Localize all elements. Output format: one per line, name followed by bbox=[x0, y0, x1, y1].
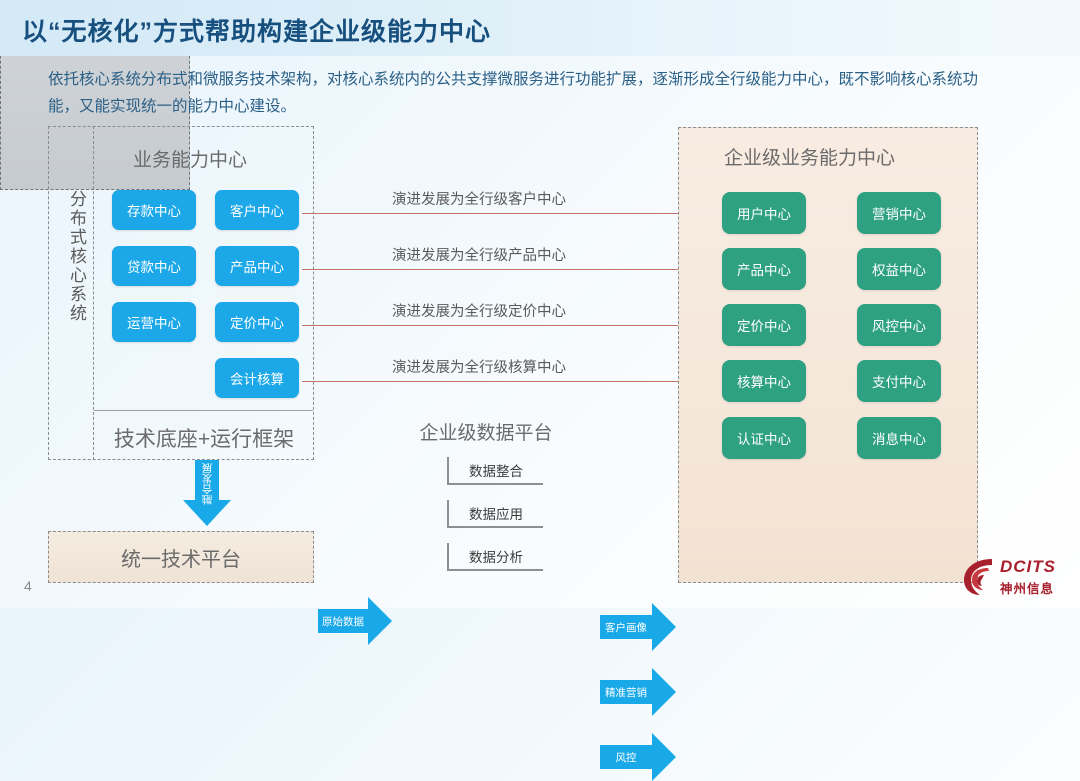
ent-box-payment[interactable]: 支付中心 bbox=[857, 360, 941, 402]
evolution-label-2: 演进发展为全行级产品中心 bbox=[392, 244, 566, 265]
ent-box-riskcontrol[interactable]: 风控中心 bbox=[857, 304, 941, 346]
dcits-swirl-icon bbox=[962, 556, 1002, 598]
page-title: 以“无核化”方式帮助构建企业级能力中心 bbox=[22, 12, 491, 48]
arrow-customer-profile-label: 客户画像 bbox=[600, 615, 652, 639]
page-subtitle: 依托核心系统分布式和微服务技术架构，对核心系统内的公共支撑微服务进行功能扩展，逐… bbox=[48, 66, 988, 120]
tech-base-separator bbox=[94, 410, 313, 411]
arrow-risk-control-head-icon bbox=[652, 733, 676, 781]
data-item-integration[interactable]: 数据整合 bbox=[447, 457, 543, 485]
evolution-line-4 bbox=[302, 381, 706, 382]
ent-box-auth[interactable]: 认证中心 bbox=[722, 417, 806, 459]
ent-box-pricing[interactable]: 定价中心 bbox=[722, 304, 806, 346]
evolution-label-3: 演进发展为全行级定价中心 bbox=[392, 300, 566, 321]
data-item-analysis[interactable]: 数据分析 bbox=[447, 543, 543, 571]
ent-box-rights[interactable]: 权益中心 bbox=[857, 248, 941, 290]
page-number: 4 bbox=[24, 578, 32, 594]
core-box-pricing[interactable]: 定价中心 bbox=[215, 302, 299, 342]
slide-root: 以“无核化”方式帮助构建企业级能力中心 依托核心系统分布式和微服务技术架构，对核… bbox=[0, 0, 1080, 608]
enterprise-center-title: 企业级业务能力中心 bbox=[724, 143, 895, 170]
evolution-line-3 bbox=[302, 325, 706, 326]
evolution-line-1 bbox=[302, 213, 706, 214]
core-system-vertical-label: 分布式核心系统 bbox=[55, 190, 89, 323]
ent-box-marketing[interactable]: 营销中心 bbox=[857, 192, 941, 234]
core-box-product[interactable]: 产品中心 bbox=[215, 246, 299, 286]
data-platform-title: 企业级数据平台 bbox=[392, 418, 580, 445]
arrow-precision-marketing-label: 精准营销 bbox=[600, 680, 652, 704]
arrow-raw-data-label: 原始数据 bbox=[318, 609, 368, 633]
data-item-application[interactable]: 数据应用 bbox=[447, 500, 543, 528]
core-box-loan[interactable]: 贷款中心 bbox=[112, 246, 196, 286]
core-box-customer[interactable]: 客户中心 bbox=[215, 190, 299, 230]
ent-box-accounting[interactable]: 核算中心 bbox=[722, 360, 806, 402]
down-arrow-label: 融合发展 bbox=[195, 460, 219, 508]
business-capability-center-title: 业务能力中心 bbox=[133, 145, 247, 172]
logo-text-en: DCITS bbox=[1000, 557, 1056, 577]
ent-box-message[interactable]: 消息中心 bbox=[857, 417, 941, 459]
core-box-operation[interactable]: 运营中心 bbox=[112, 302, 196, 342]
core-box-deposit[interactable]: 存款中心 bbox=[112, 190, 196, 230]
arrow-customer-profile-head-icon bbox=[652, 603, 676, 651]
core-box-accounting[interactable]: 会计核算 bbox=[215, 358, 299, 398]
evolution-label-4: 演进发展为全行级核算中心 bbox=[392, 356, 566, 377]
logo-text-cn: 神州信息 bbox=[1000, 578, 1054, 597]
ent-box-product[interactable]: 产品中心 bbox=[722, 248, 806, 290]
ent-box-user[interactable]: 用户中心 bbox=[722, 192, 806, 234]
evolution-label-1: 演进发展为全行级客户中心 bbox=[392, 188, 566, 209]
arrow-raw-data-head-icon bbox=[368, 597, 392, 645]
tech-base-label: 技术底座+运行框架 bbox=[96, 418, 312, 458]
evolution-line-2 bbox=[302, 269, 706, 270]
unified-platform-label: 统一技术平台 bbox=[48, 531, 314, 583]
arrow-risk-control-label: 风控 bbox=[600, 745, 652, 769]
arrow-precision-marketing-head-icon bbox=[652, 668, 676, 716]
